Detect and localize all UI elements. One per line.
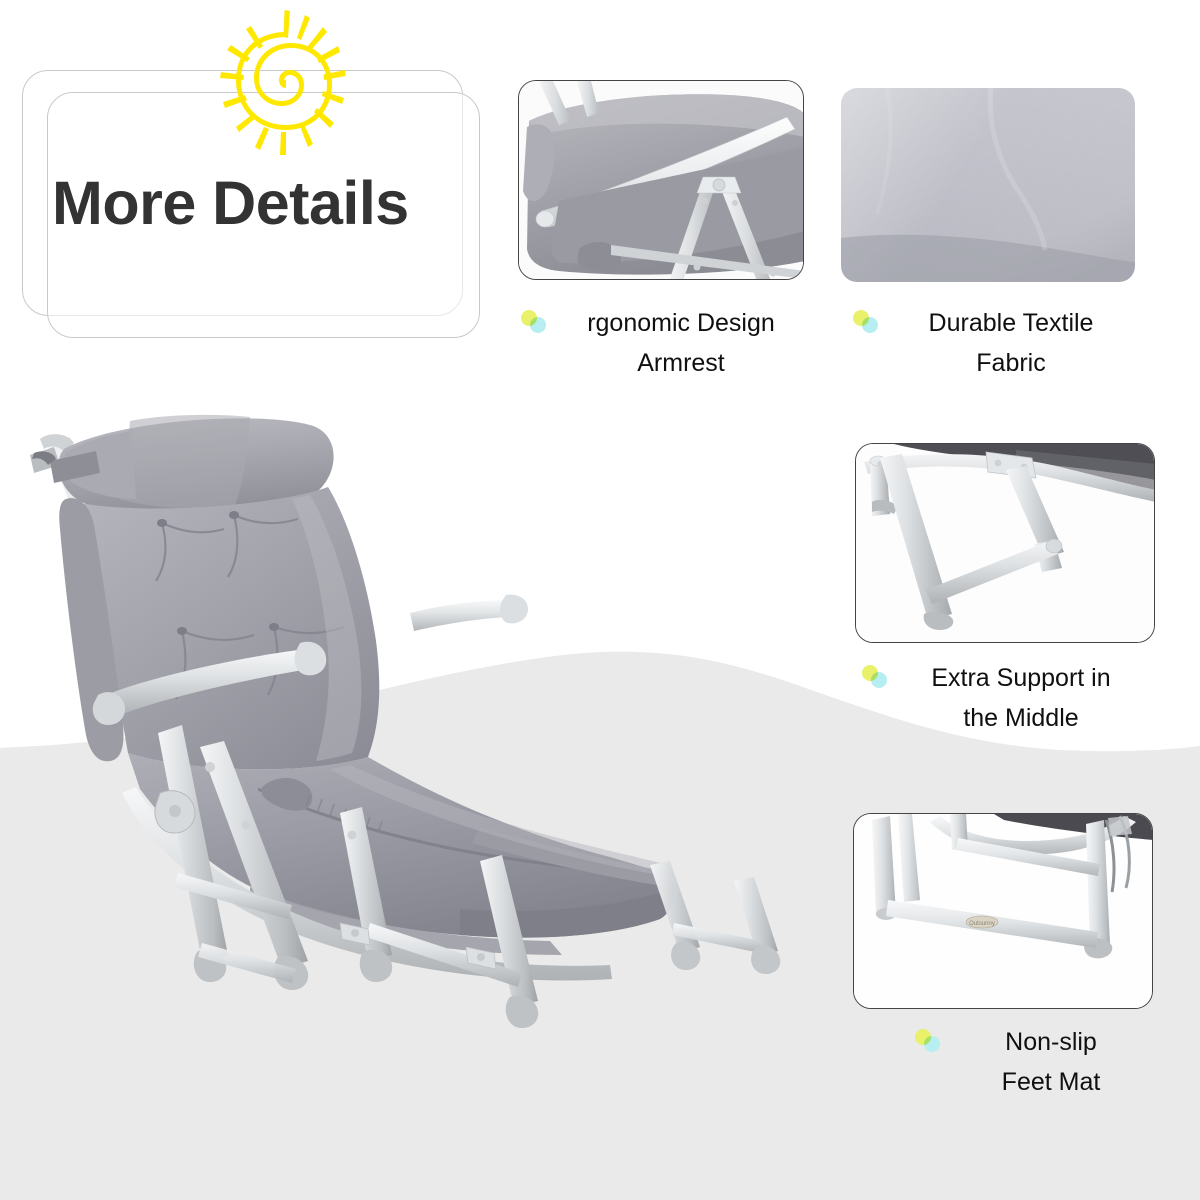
fabric-swatch-photo <box>841 88 1135 282</box>
caption-fabric-text: Durable Textile Fabric <box>886 303 1136 383</box>
sun-icon <box>212 8 362 180</box>
middle-support-bar-photo <box>856 444 1155 643</box>
svg-text:Outsunny: Outsunny <box>969 921 995 927</box>
caption-support: Extra Support in the Middle <box>896 658 1146 738</box>
folding-chaise-lounge-chair-photo <box>10 395 870 1075</box>
bullet-icon-fabric <box>853 310 881 332</box>
caption-armrest: rgonomic Design Armrest <box>556 303 806 383</box>
caption-support-text: Extra Support in the Middle <box>896 658 1146 738</box>
more-details-header: More Details <box>0 0 500 360</box>
product-detail-page: More Details <box>0 0 1200 1200</box>
feature-panel-support[interactable] <box>855 443 1155 643</box>
bullet-icon-armrest <box>521 310 549 332</box>
page-title: More Details <box>52 173 472 234</box>
feature-panel-feet[interactable]: Outsunny <box>853 813 1153 1009</box>
feature-panel-armrest[interactable] <box>518 80 804 280</box>
bullet-icon-support <box>862 665 890 687</box>
caption-feet: Non-slip Feet Mat <box>946 1022 1156 1102</box>
feature-panel-fabric[interactable] <box>841 88 1135 282</box>
caption-fabric: Durable Textile Fabric <box>886 303 1136 383</box>
bullet-icon-feet <box>915 1029 943 1051</box>
caption-feet-text: Non-slip Feet Mat <box>946 1022 1156 1102</box>
armrest-closeup-photo <box>519 81 804 280</box>
caption-armrest-text: rgonomic Design Armrest <box>556 303 806 383</box>
non-slip-feet-photo: Outsunny <box>854 814 1153 1009</box>
